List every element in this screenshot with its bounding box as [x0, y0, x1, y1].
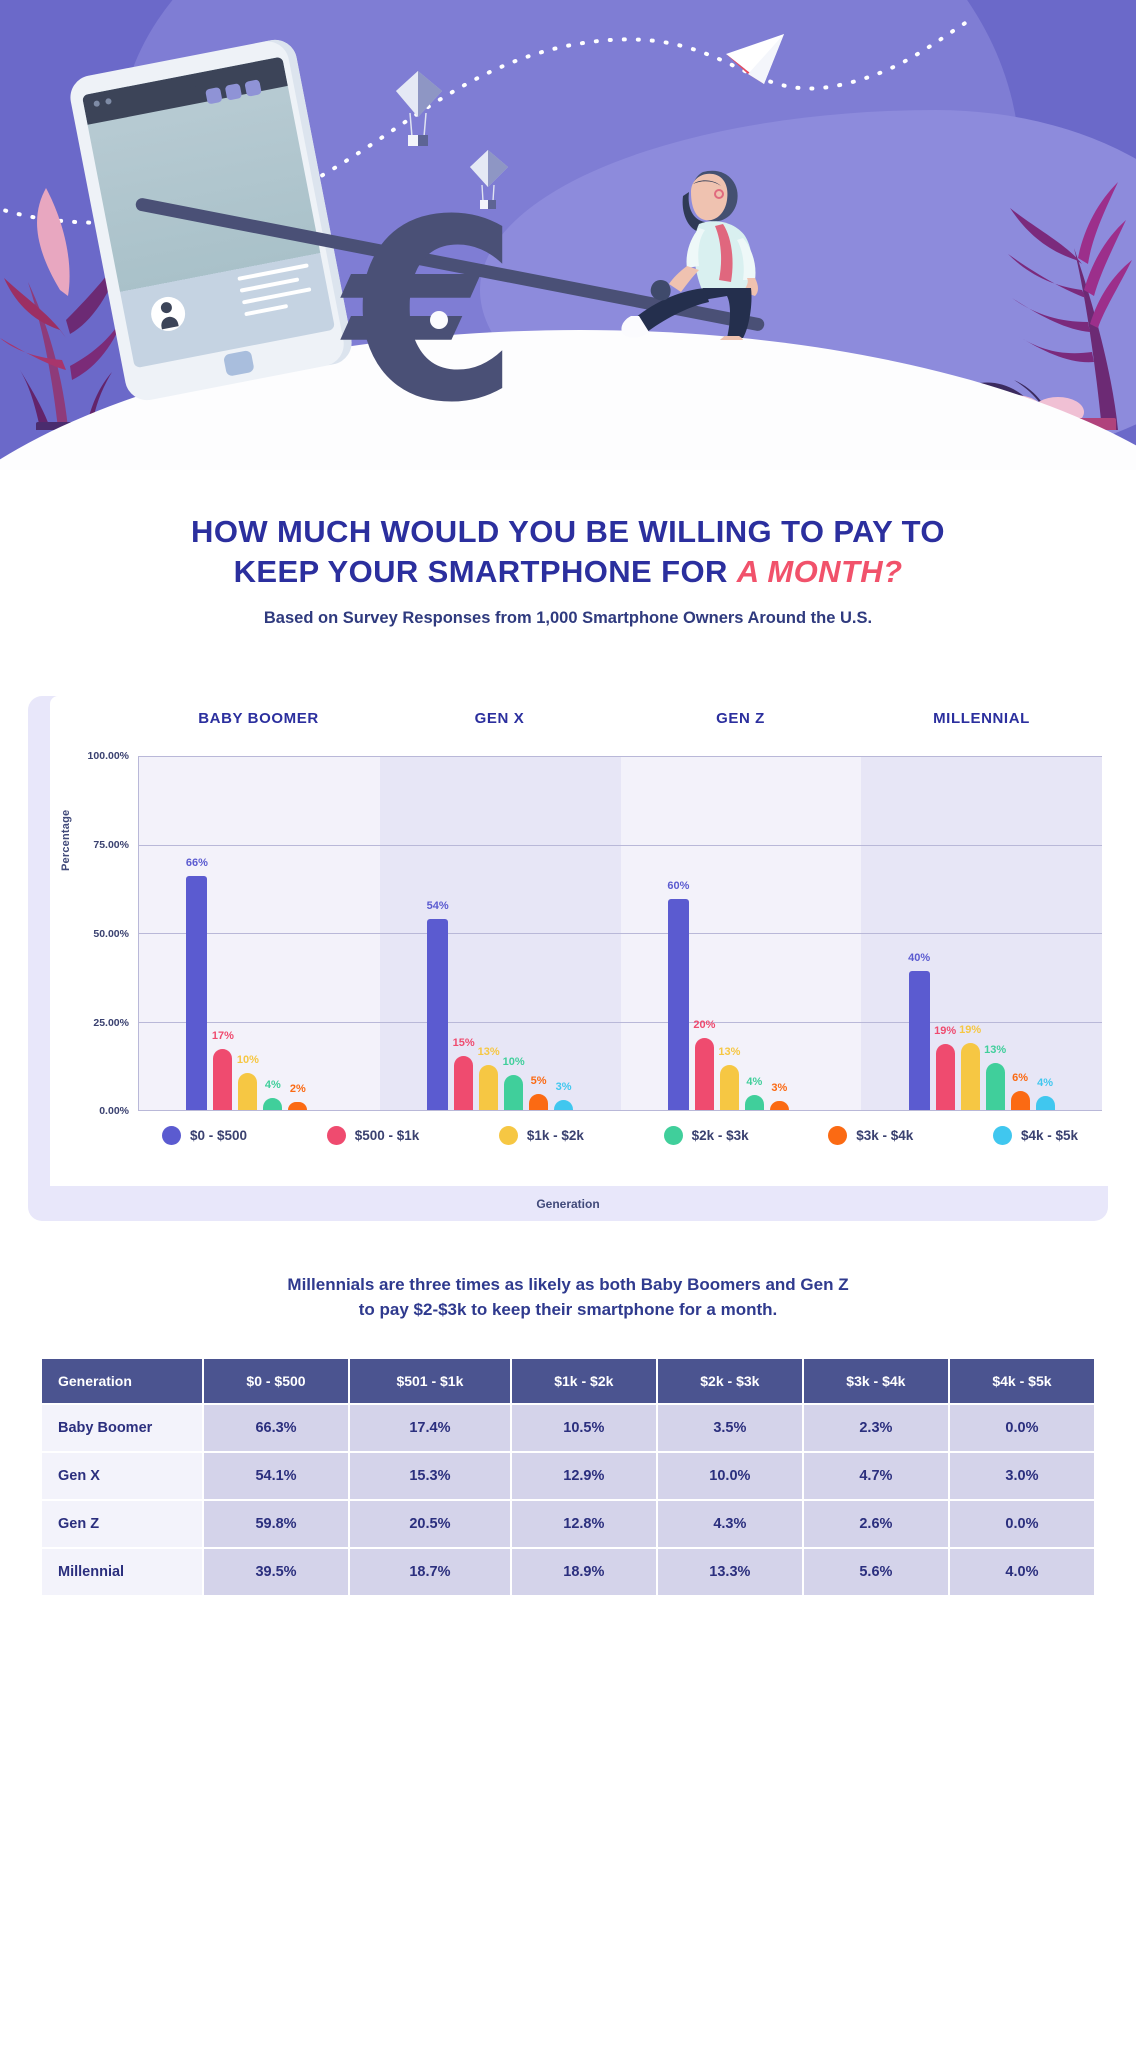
legend-label: $3k - $4k [856, 1128, 913, 1143]
callout-text: Millennials are three times as likely as… [218, 1273, 918, 1322]
chart-bar[interactable]: 3% [554, 1100, 573, 1111]
chart-bar-label: 4% [1037, 1077, 1053, 1089]
chart-bar-label: 10% [237, 1054, 259, 1066]
table-row-header: Gen Z [42, 1501, 202, 1547]
legend-label: $0 - $500 [190, 1128, 247, 1143]
chart-bar-label: 17% [212, 1030, 234, 1042]
chart-bar-label: 13% [718, 1046, 740, 1058]
table-row-header: Millennial [42, 1549, 202, 1595]
chart-bar[interactable]: 19% [961, 1043, 980, 1110]
chart-group-0: 66%17%10%4%2% [139, 756, 380, 1110]
chart-legend: $0 - $500$500 - $1k$1k - $2k$2k - $3k$3k… [138, 1126, 1102, 1145]
chart-bar[interactable]: 10% [238, 1073, 257, 1110]
chart-bar[interactable]: 2% [288, 1102, 307, 1110]
chart-bar-label: 15% [453, 1037, 475, 1049]
table-column-header-6: $4k - $5k [950, 1359, 1094, 1403]
chart-group-3: 40%19%19%13%6%4% [861, 756, 1102, 1110]
table-column-header-4: $2k - $3k [658, 1359, 802, 1403]
chart-group-headers: BABY BOOMERGEN XGEN ZMILLENNIAL [138, 710, 1102, 740]
table-cell: 5.6% [804, 1549, 948, 1595]
table-column-header-5: $3k - $4k [804, 1359, 948, 1403]
table-row: Baby Boomer66.3%17.4%10.5%3.5%2.3%0.0% [42, 1405, 1094, 1451]
chart-bar[interactable]: 3% [770, 1101, 789, 1110]
table-cell: 18.9% [512, 1549, 656, 1595]
title-accent: A MONTH? [737, 554, 903, 589]
table-cell: 12.9% [512, 1453, 656, 1499]
chart-bar[interactable]: 17% [213, 1049, 232, 1111]
table-column-header-1: $0 - $500 [204, 1359, 348, 1403]
table-cell: 13.3% [658, 1549, 802, 1595]
chart-bar-label: 20% [693, 1019, 715, 1031]
chart-bar[interactable]: 13% [479, 1065, 498, 1111]
legend-label: $4k - $5k [1021, 1128, 1078, 1143]
legend-label: $2k - $3k [692, 1128, 749, 1143]
chart-y-tick: 50.00% [93, 928, 129, 940]
chart-bar[interactable]: 13% [986, 1063, 1005, 1110]
table-cell: 18.7% [350, 1549, 510, 1595]
chart-bar[interactable]: 60% [668, 899, 689, 1111]
table-cell: 4.3% [658, 1501, 802, 1547]
table-cell: 12.8% [512, 1501, 656, 1547]
chart-gridline: 0.00% [139, 1110, 1102, 1111]
table-cell: 39.5% [204, 1549, 348, 1595]
chart-bar[interactable]: 5% [529, 1094, 548, 1111]
table-column-header-3: $1k - $2k [512, 1359, 656, 1403]
chart-y-tick: 75.00% [93, 839, 129, 851]
chart-group-2: 60%20%13%4%3% [621, 756, 862, 1110]
legend-color-swatch [993, 1126, 1012, 1145]
data-table-wrapper: Generation$0 - $500$501 - $1k$1k - $2k$2… [40, 1357, 1096, 1597]
table-cell: 3.5% [658, 1405, 802, 1451]
table-row: Gen Z59.8%20.5%12.8%4.3%2.6%0.0% [42, 1501, 1094, 1547]
chart-bar-label: 13% [984, 1044, 1006, 1056]
chart-bar-label: 4% [265, 1079, 281, 1091]
chart-bar-label: 2% [290, 1083, 306, 1095]
seated-man-illustration [595, 140, 785, 340]
chart-legend-item-4[interactable]: $3k - $4k [828, 1126, 913, 1145]
chart-bar-label: 10% [503, 1056, 525, 1068]
chart-group-header-1: GEN X [379, 710, 620, 740]
hero-illustration: € [0, 0, 1136, 470]
chart-y-tick: 0.00% [99, 1105, 129, 1117]
chart-legend-item-5[interactable]: $4k - $5k [993, 1126, 1078, 1145]
chart-bar[interactable]: 6% [1011, 1091, 1030, 1111]
chart-bar[interactable]: 66% [186, 876, 207, 1111]
page-title: HOW MUCH WOULD YOU BE WILLING TO PAY TO … [80, 512, 1056, 591]
chart-bar[interactable]: 20% [695, 1038, 714, 1111]
legend-color-swatch [162, 1126, 181, 1145]
chart-bar[interactable]: 10% [504, 1075, 523, 1110]
chart-bar-label: 3% [771, 1082, 787, 1094]
table-row: Millennial39.5%18.7%18.9%13.3%5.6%4.0% [42, 1549, 1094, 1595]
chart-bar-groups: 66%17%10%4%2%54%15%13%10%5%3%60%20%13%4%… [139, 756, 1102, 1110]
table-column-header-2: $501 - $1k [350, 1359, 510, 1403]
chart-bar[interactable]: 19% [936, 1044, 955, 1110]
table-cell: 2.6% [804, 1501, 948, 1547]
balloon-icon [390, 65, 450, 155]
legend-color-swatch [499, 1126, 518, 1145]
table-cell: 10.5% [512, 1405, 656, 1451]
chart-bar[interactable]: 54% [427, 919, 448, 1111]
table-cell: 2.3% [804, 1405, 948, 1451]
chart-plot-area: 0.00%25.00%50.00%75.00%100.00% 66%17%10%… [138, 756, 1102, 1111]
table-cell: 20.5% [350, 1501, 510, 1547]
table-cell: 4.7% [804, 1453, 948, 1499]
legend-color-swatch [327, 1126, 346, 1145]
chart-bar[interactable]: 4% [745, 1095, 764, 1110]
legend-color-swatch [664, 1126, 683, 1145]
chart-group-header-2: GEN Z [620, 710, 861, 740]
chart-bar-label: 66% [186, 857, 208, 869]
chart-bar[interactable]: 4% [263, 1098, 282, 1110]
table-cell: 4.0% [950, 1549, 1094, 1595]
chart-bar-label: 60% [667, 880, 689, 892]
chart-legend-item-3[interactable]: $2k - $3k [664, 1126, 749, 1145]
chart-bar[interactable]: 13% [720, 1065, 739, 1110]
title-line-1: HOW MUCH WOULD YOU BE WILLING TO PAY TO [191, 514, 945, 549]
table-cell: 10.0% [658, 1453, 802, 1499]
table-cell: 54.1% [204, 1453, 348, 1499]
chart-group-header-0: BABY BOOMER [138, 710, 379, 740]
seesaw-base-icon: € [345, 222, 595, 422]
table-row-header: Gen X [42, 1453, 202, 1499]
chart-bar-label: 19% [959, 1024, 981, 1036]
chart-legend-item-0[interactable]: $0 - $500 [162, 1126, 247, 1145]
page-subtitle: Based on Survey Responses from 1,000 Sma… [80, 609, 1056, 628]
callout-line-1: Millennials are three times as likely as… [287, 1275, 848, 1294]
chart-x-axis-label: Generation [28, 1197, 1108, 1211]
title-line-2: KEEP YOUR SMARTPHONE FOR [234, 554, 737, 589]
chart-bar[interactable]: 4% [1036, 1096, 1055, 1110]
legend-label: $1k - $2k [527, 1128, 584, 1143]
chart-bar[interactable]: 15% [454, 1056, 473, 1110]
table-cell: 59.8% [204, 1501, 348, 1547]
data-table: Generation$0 - $500$501 - $1k$1k - $2k$2… [40, 1357, 1096, 1597]
chart-bar-label: 4% [746, 1076, 762, 1088]
chart-bar-label: 3% [556, 1081, 572, 1093]
chart-bar-label: 19% [934, 1025, 956, 1037]
chart-legend-item-1[interactable]: $500 - $1k [327, 1126, 420, 1145]
chart-plot-container: Percentage BABY BOOMERGEN XGEN ZMILLENNI… [50, 696, 1108, 1186]
chart-bar-label: 13% [478, 1046, 500, 1058]
table-cell: 0.0% [950, 1405, 1094, 1451]
table-head: Generation$0 - $500$501 - $1k$1k - $2k$2… [42, 1359, 1094, 1403]
table-cell: 66.3% [204, 1405, 348, 1451]
table-cell: 17.4% [350, 1405, 510, 1451]
chart-y-tick: 25.00% [93, 1017, 129, 1029]
seesaw-fulcrum [430, 311, 448, 329]
chart-bar-label: 6% [1012, 1072, 1028, 1084]
title-block: HOW MUCH WOULD YOU BE WILLING TO PAY TO … [0, 470, 1136, 628]
table-cell: 3.0% [950, 1453, 1094, 1499]
callout-line-2: to pay $2-$3k to keep their smartphone f… [359, 1300, 777, 1319]
table-row: Gen X54.1%15.3%12.9%10.0%4.7%3.0% [42, 1453, 1094, 1499]
chart-group-header-3: MILLENNIAL [861, 710, 1102, 740]
table-header-row: Generation$0 - $500$501 - $1k$1k - $2k$2… [42, 1359, 1094, 1403]
chart-y-tick: 100.00% [88, 750, 129, 762]
table-column-header-0: Generation [42, 1359, 202, 1403]
chart-y-axis-label: Percentage [60, 810, 72, 871]
chart-bar-label: 54% [427, 900, 449, 912]
table-row-header: Baby Boomer [42, 1405, 202, 1451]
chart-group-1: 54%15%13%10%5%3% [380, 756, 621, 1110]
table-cell: 15.3% [350, 1453, 510, 1499]
legend-color-swatch [828, 1126, 847, 1145]
chart-bar[interactable]: 40% [909, 971, 930, 1111]
chart-bar-label: 40% [908, 952, 930, 964]
chart-legend-item-2[interactable]: $1k - $2k [499, 1126, 584, 1145]
chart-card: Percentage BABY BOOMERGEN XGEN ZMILLENNI… [28, 696, 1108, 1221]
legend-label: $500 - $1k [355, 1128, 420, 1143]
table-body: Baby Boomer66.3%17.4%10.5%3.5%2.3%0.0%Ge… [42, 1405, 1094, 1595]
table-cell: 0.0% [950, 1501, 1094, 1547]
chart-bar-label: 5% [531, 1075, 547, 1087]
paper-plane-icon [718, 32, 788, 92]
